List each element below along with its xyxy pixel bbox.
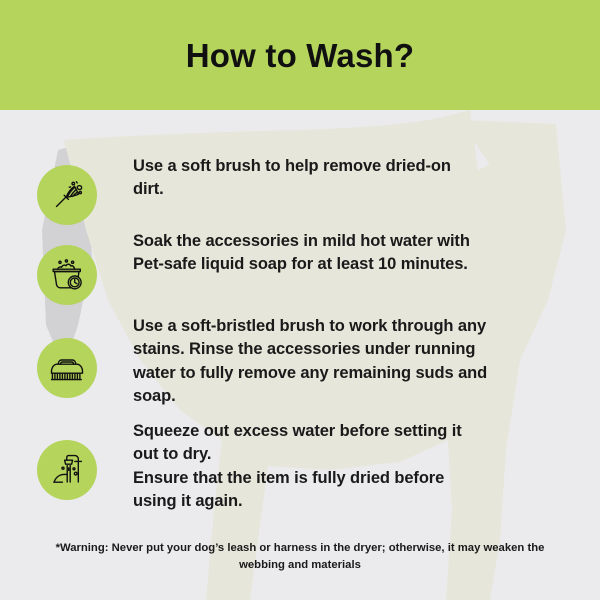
- step-text-line: Squeeze out excess water before setting …: [133, 420, 553, 443]
- step-text-line: Use a soft-bristled brush to work throug…: [133, 315, 553, 338]
- poster-header: How to Wash?: [0, 0, 600, 110]
- page-title: How to Wash?: [186, 39, 415, 72]
- warning-note: *Warning: Never put your dog’s leash or …: [0, 540, 600, 574]
- feather-duster-icon: [49, 177, 85, 213]
- step-text-line: stains. Rinse the accessories under runn…: [133, 338, 553, 361]
- hand-under-faucet-icon: [48, 451, 86, 489]
- step-icon-badge: [37, 338, 97, 398]
- step-text-line: water to fully remove any remaining suds…: [133, 362, 553, 385]
- step-text: Use a soft-bristled brush to work throug…: [133, 315, 553, 409]
- step-text-line: Ensure that the item is fully dried befo…: [133, 467, 553, 490]
- step-icon-badge: [37, 165, 97, 225]
- wash-basin-timer-icon: [48, 256, 86, 294]
- step-text-line: soap.: [133, 385, 553, 408]
- step-text-line: out to dry.: [133, 443, 553, 466]
- step-text-line: using it again.: [133, 490, 553, 513]
- step-text-line: dirt.: [133, 178, 553, 201]
- step-icon-badge: [37, 440, 97, 500]
- step-text: Use a soft brush to help remove dried-on…: [133, 155, 553, 202]
- step-text: Soak the accessories in mild hot water w…: [133, 230, 553, 277]
- warning-line: *Warning: Never put your dog’s leash or …: [0, 540, 600, 557]
- step-text-line: Pet-safe liquid soap for at least 10 min…: [133, 253, 553, 276]
- how-to-wash-poster: How to Wash?: [0, 0, 600, 600]
- step-text: Squeeze out excess water before setting …: [133, 420, 553, 514]
- step-icon-badge: [37, 245, 97, 305]
- step-text-line: Soak the accessories in mild hot water w…: [133, 230, 553, 253]
- warning-line: webbing and materials: [0, 557, 600, 574]
- step-text-line: Use a soft brush to help remove dried-on: [133, 155, 553, 178]
- scrub-brush-icon: [47, 348, 87, 388]
